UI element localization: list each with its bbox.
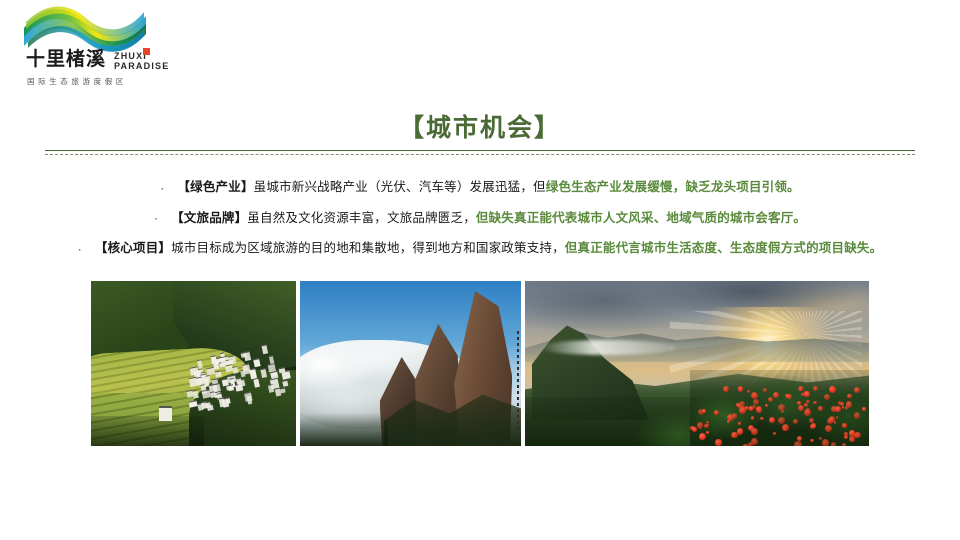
azalea-flower: [793, 419, 798, 424]
azalea-flower: [760, 417, 764, 421]
logo-name-en-line2: PARADISE: [114, 62, 169, 72]
photo3-foreground-azalea-bush: [690, 370, 869, 446]
bullet-item: ·【绿色产业】虽城市新兴战略产业（光伏、汽车等）发展迅猛，但绿色生态产业发展缓慢…: [0, 172, 960, 203]
bullet-text-segment: 虽自然及文化资源丰富，文旅品牌匮乏，: [247, 211, 476, 225]
photo-strip: [91, 281, 869, 446]
azalea-flower: [813, 401, 817, 405]
azalea-flower: [751, 416, 754, 419]
azalea-flower: [849, 430, 855, 436]
azalea-flower: [738, 386, 744, 392]
photo-peaks-above-clouds: [300, 281, 521, 446]
bullet-marker-icon: ·: [160, 173, 164, 203]
azalea-flower: [794, 441, 801, 446]
photo1-shadow-foreground: [91, 416, 204, 446]
azalea-flower: [692, 427, 697, 432]
azalea-flower: [822, 439, 829, 446]
photo2-rock-texture: [517, 331, 519, 430]
divider-dotted-rule: [45, 154, 915, 155]
azalea-flower: [702, 409, 706, 413]
bullet-marker-icon: ·: [154, 203, 158, 233]
azalea-flower: [834, 421, 837, 424]
brand-logo: 十里楮溪 ZHUXI PARADISE 国际生态旅游度假区: [14, 6, 154, 90]
azalea-flower: [798, 405, 804, 411]
azalea-flower: [773, 392, 779, 398]
azalea-flower: [706, 431, 709, 434]
logo-name-cn: 十里楮溪: [26, 50, 106, 69]
azalea-flower: [806, 400, 809, 403]
azalea-flower: [818, 406, 823, 411]
azalea-flower: [804, 391, 810, 397]
bullet-marker-icon: ·: [78, 234, 82, 264]
azalea-flower: [819, 437, 822, 440]
azalea-flower: [738, 404, 742, 408]
azalea-flower: [810, 439, 813, 442]
azalea-flower: [727, 420, 730, 423]
azalea-flower: [786, 394, 791, 399]
azalea-flower: [714, 410, 719, 415]
azalea-flower: [769, 417, 775, 423]
azalea-flower: [765, 404, 768, 407]
azalea-flower: [778, 417, 785, 424]
azalea-flower: [854, 412, 861, 419]
azalea-flower: [838, 401, 841, 404]
azalea-flower: [804, 403, 808, 407]
azalea-flower: [824, 394, 830, 400]
photo1-lone-house: [159, 406, 172, 421]
bullet-item: ·【文旅品牌】虽自然及文化资源丰富，文旅品牌匮乏，但缺失真正能代表城市人文风采、…: [0, 203, 960, 234]
azalea-flower: [804, 409, 811, 416]
azalea-flower: [747, 390, 750, 393]
bullet-text-segment: 绿色生态产业发展缓慢，缺乏龙头项目引领。: [546, 180, 800, 194]
azalea-flower: [825, 425, 832, 432]
azalea-flower: [847, 394, 851, 398]
azalea-flower: [836, 416, 839, 419]
azalea-flower: [749, 406, 754, 411]
bullet-text-segment: 【绿色产业】: [177, 180, 253, 194]
azalea-flower: [831, 442, 837, 446]
page-title: 【城市机会】: [0, 108, 960, 144]
bullet-item: ·【核心项目】城市目标成为区域旅游的目的地和集散地，得到地方和国家政策支持，但真…: [0, 233, 960, 264]
azalea-flower: [737, 428, 743, 434]
azalea-flower: [768, 397, 773, 402]
photo-terraced-valley-village: [91, 281, 296, 446]
azalea-flower: [842, 406, 845, 409]
azalea-flower: [854, 387, 860, 393]
azalea-flower: [756, 406, 762, 412]
bullet-text-segment: 但缺失真正能代表城市人文风采、地域气质的城市会客厅。: [476, 211, 806, 225]
azalea-flower: [723, 386, 729, 392]
logo-wave-icon: [22, 6, 148, 54]
azalea-flower: [781, 410, 784, 413]
bullet-text-segment: 但真正能代言城市生活态度、生态度假方式的项目缺失。: [565, 241, 883, 255]
logo-subtitle: 国际生态旅游度假区: [27, 76, 127, 87]
photo-sunrise-ridge-azalea: [525, 281, 869, 446]
bullet-text-segment: 虽城市新兴战略产业（光伏、汽车等）发展迅猛，但: [254, 180, 546, 194]
azalea-flower: [697, 422, 703, 428]
azalea-flower: [738, 422, 741, 425]
azalea-flower: [782, 424, 789, 431]
divider-solid-rule: [45, 150, 915, 151]
azalea-flower: [849, 437, 855, 443]
azalea-flower: [854, 432, 861, 439]
azalea-flower: [846, 401, 853, 408]
azalea-flower: [842, 423, 846, 427]
bullet-text-segment: 【文旅品牌】: [171, 211, 247, 225]
azalea-flower: [763, 388, 767, 392]
azalea-flower: [751, 428, 758, 435]
azalea-flower: [813, 386, 818, 391]
azalea-flower: [699, 433, 706, 440]
azalea-flower: [862, 407, 866, 411]
title-divider: [45, 150, 915, 155]
bullet-text-segment: 城市目标成为区域旅游的目的地和集散地，得到地方和国家政策支持，: [171, 241, 565, 255]
azalea-flower: [829, 386, 836, 393]
photo2-foreground-shadow: [300, 413, 388, 446]
bullet-list: ·【绿色产业】虽城市新兴战略产业（光伏、汽车等）发展迅猛，但绿色生态产业发展缓慢…: [0, 172, 960, 264]
azalea-flower: [751, 392, 758, 399]
logo-registered-mark-icon: [143, 48, 150, 55]
azalea-flower: [706, 421, 709, 424]
azalea-flower: [835, 406, 841, 412]
azalea-flower: [773, 432, 776, 435]
azalea-flower: [751, 438, 758, 445]
azalea-flower: [812, 424, 816, 428]
azalea-flower: [732, 413, 738, 419]
azalea-flower: [715, 439, 721, 445]
azalea-flower: [706, 424, 709, 427]
bullet-text-segment: 【核心项目】: [95, 241, 171, 255]
azalea-flower: [842, 443, 846, 446]
azalea-flower: [778, 404, 785, 411]
azalea-flower: [753, 399, 759, 405]
logo-name-en: ZHUXI PARADISE: [114, 52, 169, 71]
